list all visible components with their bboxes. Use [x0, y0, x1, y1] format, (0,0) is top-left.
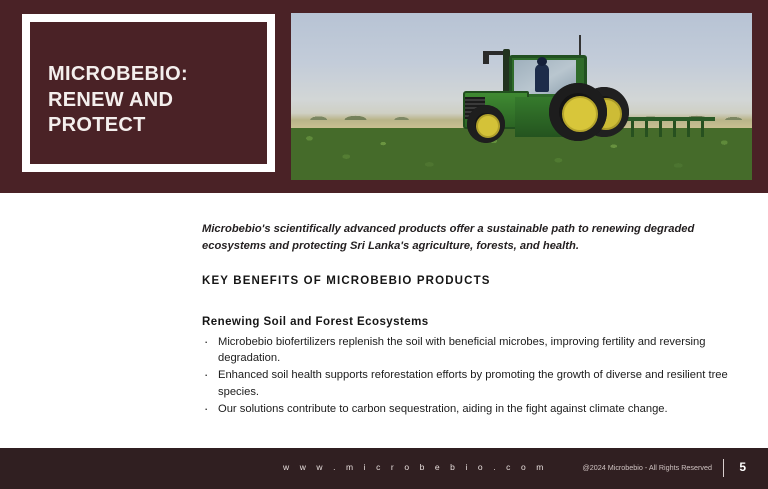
- presentation-slide: MICROBEBIO: RENEW AND PROTECT: [0, 0, 768, 489]
- section-heading: KEY BENEFITS OF MICROBEBIO PRODUCTS: [202, 275, 491, 287]
- slide-title: MICROBEBIO: RENEW AND PROTECT: [48, 62, 259, 139]
- copyright-text: @2024 Microbebio - All Rights Reserved: [582, 463, 712, 472]
- cultivator-implement: [625, 113, 715, 139]
- rear-wheel-inner: [549, 83, 607, 141]
- list-item: Our solutions contribute to carbon seque…: [202, 401, 742, 417]
- subsection-heading: Renewing Soil and Forest Ecosystems: [202, 316, 429, 328]
- driver-figure: [535, 64, 549, 92]
- benefits-list: Microbebio biofertilizers replenish the …: [202, 334, 742, 418]
- implement-tine: [645, 121, 648, 137]
- antenna: [579, 35, 581, 57]
- implement-tine: [631, 121, 634, 137]
- implement-tine: [701, 121, 704, 137]
- slide-footer: w w w . m i c r o b e b i o . c o m @202…: [0, 448, 768, 489]
- header-photo: [291, 13, 752, 180]
- implement-tine: [673, 121, 676, 137]
- intro-paragraph: Microbebio's scientifically advanced pro…: [202, 221, 726, 256]
- implement-tine: [659, 121, 662, 137]
- list-item: Enhanced soil health supports reforestat…: [202, 367, 742, 399]
- footer-divider: [723, 459, 725, 477]
- title-frame: MICROBEBIO: RENEW AND PROTECT: [22, 14, 275, 172]
- page-number: 5: [739, 460, 746, 474]
- list-item: Microbebio biofertilizers replenish the …: [202, 334, 742, 366]
- implement-tine: [687, 121, 690, 137]
- tractor-field-image: [291, 13, 752, 180]
- website-url[interactable]: w w w . m i c r o b e b i o . c o m: [283, 462, 547, 472]
- title-inner-panel: MICROBEBIO: RENEW AND PROTECT: [30, 22, 267, 164]
- front-wheel: [467, 105, 505, 143]
- tractor-icon: [457, 47, 657, 167]
